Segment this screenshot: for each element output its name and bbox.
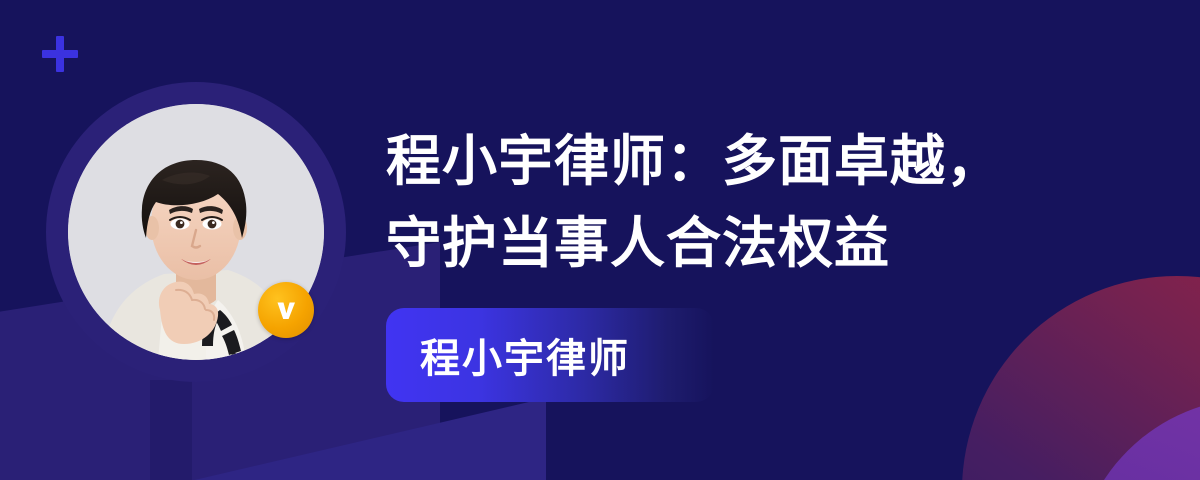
verified-check-icon xyxy=(258,282,314,338)
headline-line-1: 程小宇律师：多面卓越， xyxy=(386,120,1086,202)
headline-line-2: 守护当事人合法权益 xyxy=(386,202,1086,284)
lawyer-name-chip-button[interactable]: 程小宇律师 xyxy=(386,308,714,402)
avatar xyxy=(46,82,346,382)
lawyer-profile-banner: 程小宇律师：多面卓越， 守护当事人合法权益 程小宇律师 xyxy=(0,0,1200,480)
page-title: 程小宇律师：多面卓越， 守护当事人合法权益 xyxy=(386,120,1086,284)
plus-icon xyxy=(42,36,78,72)
headline-block: 程小宇律师：多面卓越， 守护当事人合法权益 程小宇律师 xyxy=(386,120,1086,402)
decorative-wedge-triangle xyxy=(186,398,546,480)
